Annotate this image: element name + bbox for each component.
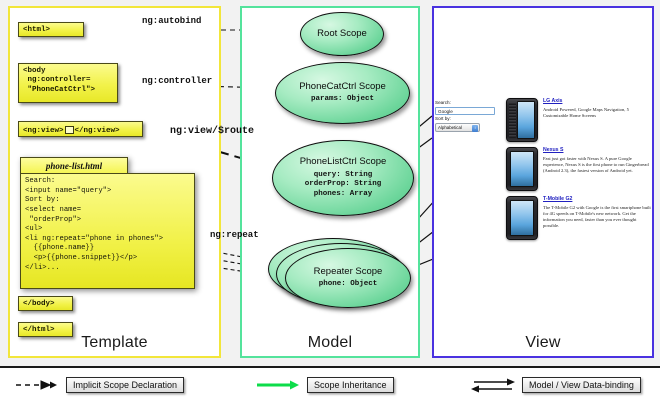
phonelistctrl-scope: PhoneListCtrl Scope query: String orderP… xyxy=(272,140,414,216)
legend-label: Implicit Scope Declaration xyxy=(66,377,184,393)
ngview-tag: <ng:view></ng:view> xyxy=(18,121,143,137)
body-close-tag: </body> xyxy=(18,296,73,311)
phone-thumbnail-icon xyxy=(506,98,538,142)
list-item[interactable]: Nexus S Fast just got faster with Nexus … xyxy=(506,147,652,191)
diagram-canvas: Template <html> <body ng:controller= "Ph… xyxy=(0,0,660,405)
phonecatctrl-scope-props: params: Object xyxy=(311,95,374,104)
bidirectional-arrow-icon xyxy=(470,377,516,393)
phone-snippet: The T-Mobile G2 with Google is the first… xyxy=(543,205,652,229)
phone-name-link[interactable]: Nexus S xyxy=(543,147,652,154)
label-ng-repeat: ng:repeat xyxy=(210,230,259,240)
ngview-open-label: <ng:view> xyxy=(23,126,64,134)
label-ng-controller: ng:controller xyxy=(142,76,212,86)
repeater-scope-props: phone: Object xyxy=(319,280,378,289)
view-panel-label: View xyxy=(434,334,652,352)
partial-template-card: phone-list.html Search: <input name="que… xyxy=(20,157,195,289)
view-search-form: Search: Google Sort by: Alphabetical↕ xyxy=(435,100,497,132)
model-panel-label: Model xyxy=(242,334,418,352)
phonelistctrl-scope-title: PhoneListCtrl Scope xyxy=(300,157,387,168)
phone-name-link[interactable]: T-Mobile G2 xyxy=(543,196,652,203)
sort-select[interactable]: Alphabetical↕ xyxy=(435,123,480,132)
legend-item-scope-inheritance: Scope Inheritance xyxy=(255,377,394,393)
phone-list: LG Axis Android Powered, Google Maps Nav… xyxy=(506,98,652,245)
list-item[interactable]: LG Axis Android Powered, Google Maps Nav… xyxy=(506,98,652,142)
sort-select-value: Alphabetical xyxy=(438,125,462,130)
ngview-close-label: </ng:view> xyxy=(75,126,120,134)
label-ng-view-route: ng:view/$route xyxy=(170,126,254,137)
phonelistctrl-scope-props: query: String orderProp: String phones: … xyxy=(305,171,382,199)
phone-name-link[interactable]: LG Axis xyxy=(543,98,652,105)
legend-item-implicit-scope: Implicit Scope Declaration xyxy=(14,377,184,393)
repeater-scope: Repeater Scope phone: Object xyxy=(285,248,411,308)
root-scope-title: Root Scope xyxy=(317,29,367,40)
phone-snippet: Android Powered, Google Maps Navigation,… xyxy=(543,107,652,119)
phonecatctrl-scope-title: PhoneCatCtrl Scope xyxy=(299,82,386,93)
sort-label: Sort by: xyxy=(435,116,497,123)
partial-filename: phone-list.html xyxy=(20,157,128,174)
phone-thumbnail-icon xyxy=(506,147,538,191)
legend-label: Model / View Data-binding xyxy=(522,377,641,393)
partial-code: Search: <input name="query"> Sort by: <s… xyxy=(20,173,195,289)
dashed-arrow-icon xyxy=(14,379,60,391)
legend: Implicit Scope Declaration Scope Inherit… xyxy=(0,366,660,405)
label-ng-autobind: ng:autobind xyxy=(142,16,201,26)
ngview-placeholder-icon xyxy=(65,126,74,134)
phonecatctrl-scope: PhoneCatCtrl Scope params: Object xyxy=(275,62,410,124)
list-item[interactable]: T-Mobile G2 The T-Mobile G2 with Google … xyxy=(506,196,652,240)
search-label: Search: xyxy=(435,100,497,107)
phone-snippet: Fast just got faster with Nexus S. A pur… xyxy=(543,156,652,174)
legend-label: Scope Inheritance xyxy=(307,377,394,393)
html-close-tag: </html> xyxy=(18,322,73,337)
repeater-scope-title: Repeater Scope xyxy=(314,267,383,278)
body-open-tag: <body ng:controller= "PhoneCatCtrl"> xyxy=(18,63,118,103)
root-scope: Root Scope xyxy=(300,12,384,56)
search-input[interactable]: Google xyxy=(435,107,495,115)
phone-thumbnail-icon xyxy=(506,196,538,240)
chevron-updown-icon: ↕ xyxy=(472,125,478,132)
html-open-tag: <html> xyxy=(18,22,84,37)
legend-item-data-binding: Model / View Data-binding xyxy=(470,377,641,393)
green-arrow-icon xyxy=(255,379,301,391)
